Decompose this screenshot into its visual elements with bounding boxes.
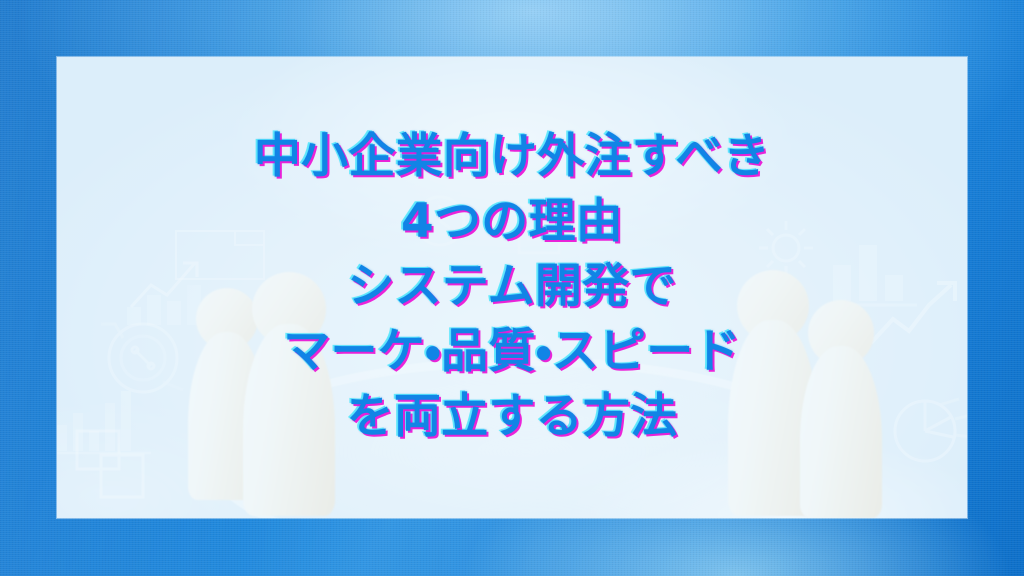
headline-line-3: システム開発で [347, 255, 676, 320]
headline-block: 中小企業向け外注すべき 4つの理由 システム開発で マーケ・品質・スピード を両… [57, 57, 967, 518]
headline-line-2: 4つの理由 [401, 190, 623, 255]
thumbnail-canvas: 中小企業向け外注すべき 4つの理由 システム開発で マーケ・品質・スピード を両… [0, 0, 1024, 576]
headline-line-1: 中小企業向け外注すべき [254, 125, 770, 190]
headline-line-4: マーケ・品質・スピード [283, 320, 741, 385]
headline-line-5: を両立する方法 [347, 385, 678, 450]
